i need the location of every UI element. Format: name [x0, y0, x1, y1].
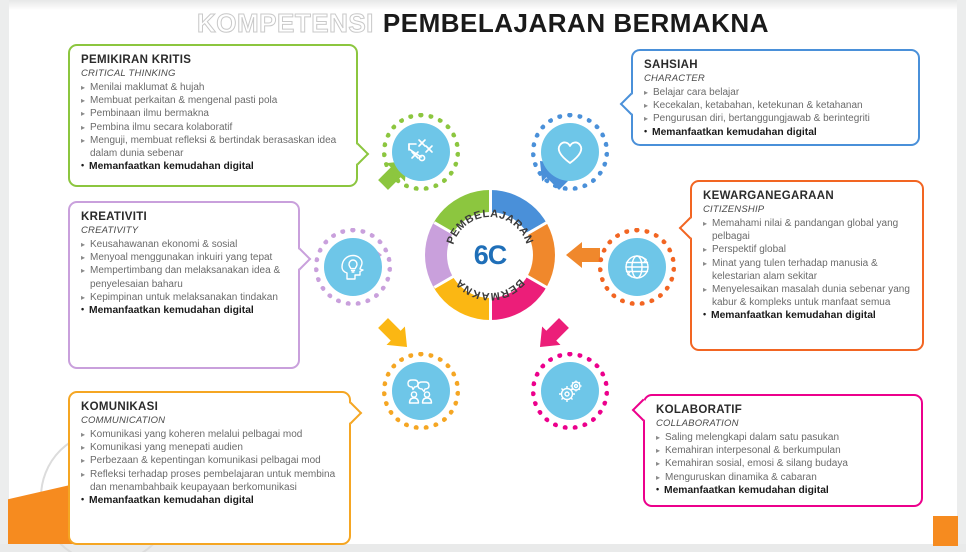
list-item: Menilai maklumat & hujah: [81, 81, 346, 94]
card-title: KOMUNIKASI: [81, 400, 339, 414]
card-list: Memahami nilai & pandangan global yang p…: [703, 217, 912, 323]
card-subtitle: COMMUNICATION: [81, 414, 339, 427]
people-speech-icon: [392, 362, 450, 420]
card-communication[interactable]: KOMUNIKASI COMMUNICATION Komunikasi yang…: [68, 391, 351, 545]
list-item-highlight: Memanfaatkan kemudahan digital: [81, 494, 339, 507]
icon-bubble-character: [531, 113, 609, 191]
list-item: Belajar cara belajar: [644, 86, 908, 99]
list-item-highlight: Memanfaatkan kemudahan digital: [81, 304, 288, 317]
strategy-icon: [392, 123, 450, 181]
card-list: Keusahawanan ekonomi & sosial Menyoal me…: [81, 238, 288, 317]
card-subtitle: CREATIVITY: [81, 224, 288, 237]
card-tail-citizenship: [679, 217, 702, 240]
list-item: Komunikasi yang koheren melalui pelbagai…: [81, 428, 339, 441]
title-outline-text: KOMPETENSI: [197, 8, 374, 39]
list-item: Menguji, membuat refleksi & bertindak be…: [81, 134, 346, 160]
list-item-highlight: Memanfaatkan kemudahan digital: [81, 160, 346, 173]
list-item: Menyelesaikan masalah dunia sebenar yang…: [703, 283, 912, 309]
frame-right-edge: [957, 0, 966, 552]
card-tail-creativity: [289, 248, 312, 271]
slide-canvas: KOMPETENSI PEMBELAJARAN BERMAKNA PEMBELA…: [0, 0, 966, 552]
list-item: Pembinaan ilmu bermakna: [81, 107, 346, 120]
list-item: Kemahiran sosial, emosi & silang budaya: [656, 457, 911, 470]
list-item-highlight: Memanfaatkan kemudahan digital: [644, 126, 908, 139]
list-item: Pengurusan diri, bertanggungjawab & beri…: [644, 112, 908, 125]
card-list: Belajar cara belajar Kecekalan, ketabaha…: [644, 86, 908, 139]
page-title: KOMPETENSI PEMBELAJARAN BERMAKNA: [0, 6, 966, 40]
card-subtitle: COLLABORATION: [656, 417, 911, 430]
card-tail-collaboration: [632, 399, 655, 422]
list-item: Kepimpinan untuk melaksanakan tindakan: [81, 291, 288, 304]
icon-bubble-creativity: [314, 228, 392, 306]
list-item: Kemahiran interpesonal & berkumpulan: [656, 444, 911, 457]
list-item: Komunikasi yang menepati audien: [81, 441, 339, 454]
list-item: Minat yang tulen terhadap manusia & kele…: [703, 257, 912, 283]
heart-icon: [541, 123, 599, 181]
card-subtitle: CRITICAL THINKING: [81, 67, 346, 80]
wheel-center-label: 6C: [425, 190, 555, 320]
icon-bubble-citizenship: [598, 228, 676, 306]
arrow-collaboration: [531, 314, 573, 356]
decorative-orange-corner: [933, 516, 958, 546]
card-title: KEWARGANEGARAAN: [703, 189, 912, 203]
card-tail-critical: [347, 143, 370, 166]
list-item-highlight: Memanfaatkan kemudahan digital: [703, 309, 912, 322]
card-title: PEMIKIRAN KRITIS: [81, 53, 346, 67]
list-item: Menyoal menggunakan inkuiri yang tepat: [81, 251, 288, 264]
list-item: Kecekalan, ketabahan, ketekunan & ketaha…: [644, 99, 908, 112]
list-item: Memahami nilai & pandangan global yang p…: [703, 217, 912, 243]
card-character[interactable]: SAHSIAH CHARACTER Belajar cara belajar K…: [631, 49, 920, 146]
card-tail-communication: [340, 402, 363, 425]
list-item: Perspektif global: [703, 243, 912, 256]
card-subtitle: CHARACTER: [644, 72, 908, 85]
icon-bubble-communication: [382, 352, 460, 430]
icon-bubble-collaboration: [531, 352, 609, 430]
frame-left-edge: [0, 0, 9, 552]
list-item: Membuat perkaitan & mengenal pasti pola: [81, 94, 346, 107]
gears-icon: [541, 362, 599, 420]
card-citizenship[interactable]: KEWARGANEGARAAN CITIZENSHIP Memahami nil…: [690, 180, 924, 351]
list-item: Mempertimbang dan melaksanakan idea & pe…: [81, 264, 288, 290]
card-title: KREATIVITI: [81, 210, 288, 224]
arrow-communication: [374, 314, 416, 356]
center-wheel: PEMBELAJARAN BERMAKNA 6C: [425, 190, 555, 320]
icon-bubble-critical: [382, 113, 460, 191]
list-item: Saling melengkapi dalam satu pasukan: [656, 431, 911, 444]
card-list: Saling melengkapi dalam satu pasukan Kem…: [656, 431, 911, 497]
card-collaboration[interactable]: KOLABORATIF COLLABORATION Saling melengk…: [643, 394, 923, 507]
card-list: Komunikasi yang koheren melalui pelbagai…: [81, 428, 339, 507]
list-item: Menguruskan dinamika & cabaran: [656, 471, 911, 484]
globe-icon: [608, 238, 666, 296]
card-critical-thinking[interactable]: PEMIKIRAN KRITIS CRITICAL THINKING Menil…: [68, 44, 358, 187]
card-title: KOLABORATIF: [656, 403, 911, 417]
list-item: Keusahawanan ekonomi & sosial: [81, 238, 288, 251]
list-item: Perbezaan & kepentingan komunikasi pelba…: [81, 454, 339, 467]
title-bold-text: PEMBELAJARAN BERMAKNA: [383, 8, 769, 39]
list-item-highlight: Memanfaatkan kemudahan digital: [656, 484, 911, 497]
card-subtitle: CITIZENSHIP: [703, 203, 912, 216]
card-list: Menilai maklumat & hujah Membuat perkait…: [81, 81, 346, 173]
card-tail-character: [620, 93, 643, 116]
head-lightbulb-icon: [324, 238, 382, 296]
card-title: SAHSIAH: [644, 58, 908, 72]
arrow-citizenship: [566, 242, 600, 268]
list-item: Refleksi terhadap proses pembelajaran un…: [81, 468, 339, 494]
list-item: Pembina ilmu secara kolaboratif: [81, 121, 346, 134]
card-creativity[interactable]: KREATIVITI CREATIVITY Keusahawanan ekono…: [68, 201, 300, 369]
